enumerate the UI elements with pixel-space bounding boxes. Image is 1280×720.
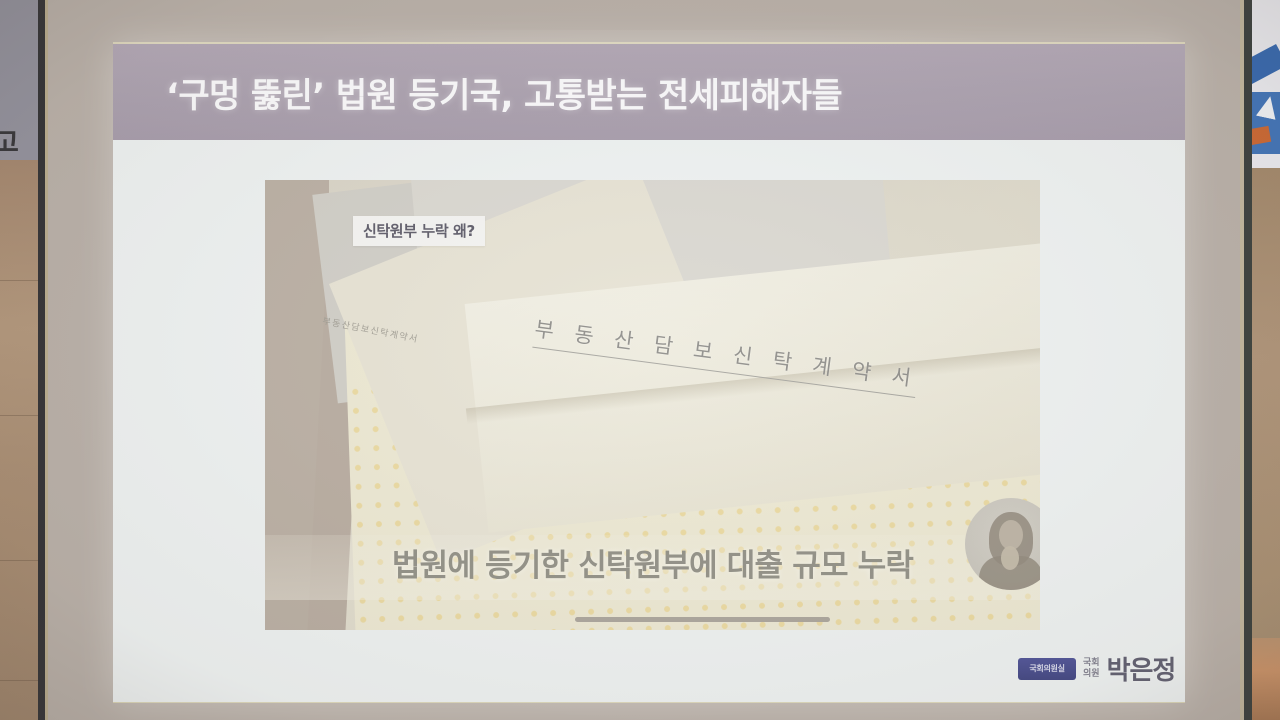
slide-title-band: ‘구멍 뚫린’ 법원 등기국, 고통받는 전세피해자들 (113, 44, 1185, 140)
screen-bezel-left (38, 0, 45, 720)
slide-title: ‘구멍 뚫린’ 법원 등기국, 고통받는 전세피해자들 (166, 68, 842, 117)
logo-badge: 국회의원실 (1018, 658, 1076, 680)
logo: 국회의원실 국회 의원 박은정 (1018, 650, 1175, 687)
left-floor (0, 160, 42, 720)
video-progress-bar[interactable] (575, 617, 830, 622)
screenshot-stage: 고 ‘구멍 뚫린’ 법원 등기국, 고통받는 전세피해자들 (0, 0, 1280, 720)
embedded-video[interactable]: 부동산담보신탁계약서 부동산담보신탁계약서 부 동 산 담 보 신 탁 계 약 … (265, 180, 1040, 630)
screen-bezel-right (1244, 0, 1252, 720)
screen-bezel-left-highlight (45, 0, 48, 720)
presentation-slide: ‘구멍 뚫린’ 법원 등기국, 고통받는 전세피해자들 부동산담보신탁계약서 부… (113, 44, 1185, 702)
interpreter-hand (1001, 546, 1019, 570)
logo-subtitle: 국회 의원 (1083, 658, 1100, 680)
logo-person-name: 박은정 (1107, 650, 1176, 687)
video-headline-caption: 법원에 등기한 신탁원부에 대출 규모 누락 (265, 540, 1040, 585)
video-caption-chip: 신탁원부 누락 왜? (353, 216, 485, 246)
logo-line-2: 의원 (1083, 669, 1100, 680)
logo-line-1: 국회 (1083, 658, 1100, 669)
